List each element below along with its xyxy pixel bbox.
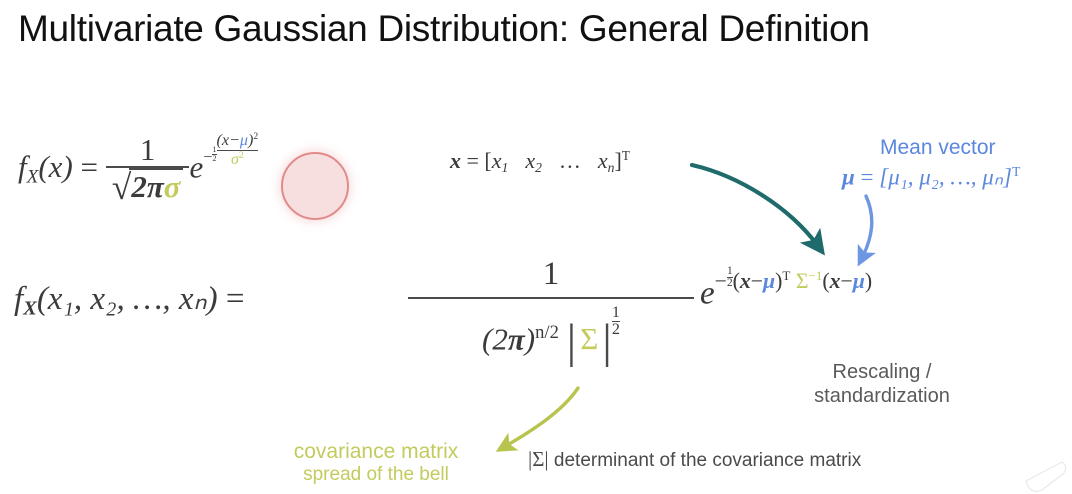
sigma-symbol: σ <box>164 169 181 204</box>
rescaling-line-1: Rescaling / <box>782 360 982 384</box>
exponent-x-minus-mu-1: (x−μ) <box>733 269 783 293</box>
bracket-open: [ <box>484 148 491 173</box>
transpose-marker: T <box>782 268 790 283</box>
covariance-line-1: covariance matrix <box>276 440 476 464</box>
determinant-symbol: |Σ| <box>528 447 549 471</box>
sigma-inverse-symbol: Σ <box>796 269 809 293</box>
one-half-exponent: 12 <box>612 305 620 338</box>
determinant-annotation: |Σ| determinant of the covariance matrix <box>528 447 861 472</box>
arrow-x-to-exponent <box>692 165 818 246</box>
mu-symbol: μ <box>240 132 248 149</box>
exponent-group: −12(x−μ)T Σ−1(x−μ) <box>715 269 873 293</box>
exp-base: e <box>189 149 203 184</box>
multivariate-formula-lhs: fX(x₁, x₂, …, xₙ) = <box>14 278 245 321</box>
ratio-numerator: (x−μ)2 <box>217 132 259 150</box>
fraction-denominator: √2πσ <box>106 166 190 206</box>
mu-symbol: μ <box>853 269 865 293</box>
covariance-line-2: spread of the bell <box>276 464 476 487</box>
mouse-pointer-icon <box>1012 448 1070 494</box>
sigma-symbol-denominator: σ <box>231 151 239 168</box>
covariance-annotation: covariance matrix spread of the bell <box>276 440 476 487</box>
fx-symbol: fX(x) <box>18 149 73 184</box>
multivariate-normalizing-fraction: 1 (2π)n/2 |Σ|12 <box>408 256 694 369</box>
rescaling-annotation: Rescaling / standardization <box>782 360 982 409</box>
equals-sign: = <box>467 148 479 173</box>
multivariate-exponential-term: e−12(x−μ)T Σ−1(x−μ) <box>700 266 872 313</box>
radicand: 2πσ <box>129 168 183 204</box>
slide-canvas: Multivariate Gaussian Distribution: Gene… <box>0 0 1072 494</box>
equals-sign: = <box>226 281 245 317</box>
page-title: Multivariate Gaussian Distribution: Gene… <box>18 8 870 50</box>
vector-ellipsis: … <box>559 148 581 173</box>
arrows-layer <box>0 0 1072 494</box>
vector-entry-n: xn <box>598 148 615 173</box>
mean-vector-label: Mean vector <box>880 136 996 160</box>
mean-vector-definition: μ = [μ₁, μ₂, …, μₙ]T <box>842 164 1020 191</box>
exponent-x-minus-mu-2: (x−μ) <box>822 269 872 293</box>
ratio-denominator: σ2 <box>217 150 259 169</box>
equals-sign: = <box>81 149 98 184</box>
rescaling-line-2: standardization <box>782 384 982 408</box>
two-pi-exponent: n/2 <box>535 322 559 343</box>
squared-z-ratio: (x−μ)2σ2 <box>217 132 259 168</box>
fraction-numerator: 1 <box>408 256 694 297</box>
sigma-matrix-symbol: Σ <box>576 321 602 356</box>
arrow-mu-to-exponent <box>862 196 872 258</box>
fx-symbol: fX <box>14 281 37 317</box>
normalizing-fraction: 1 √2πσ <box>106 134 190 207</box>
sigma-squared-highlight-circle <box>281 152 349 220</box>
fraction-numerator: 1 <box>106 134 190 167</box>
determinant-bar-left: | <box>567 314 577 369</box>
equals-sign: = <box>861 165 874 190</box>
univariate-gaussian-formula: fX(x) = 1 √2πσ e−12(x−μ)2σ2 <box>18 132 258 207</box>
vector-x-definition: x = [x1x2…xn]T <box>450 148 630 176</box>
vector-entry-1: x1 <box>492 148 509 173</box>
bold-x-symbol: x <box>450 148 461 173</box>
determinant-description: determinant of the covariance matrix <box>554 450 861 471</box>
fraction-denominator: (2π)n/2 |Σ|12 <box>408 299 694 369</box>
exp-base: e <box>700 276 715 312</box>
transpose-marker: T <box>1012 164 1020 179</box>
exponent-group: −12(x−μ)2σ2 <box>203 149 258 166</box>
function-arguments: (x₁, x₂, …, xₙ) <box>37 281 218 317</box>
two-pi-term: (2π) <box>482 321 535 356</box>
mean-vector-entries: [μ₁, μ₂, …, μₙ] <box>879 165 1012 190</box>
mu-symbol: μ <box>763 269 775 293</box>
bold-mu-symbol: μ <box>842 165 855 190</box>
arrow-sigma-to-covariance <box>504 388 578 447</box>
transpose-marker: T <box>622 148 630 163</box>
vector-entry-2: x2 <box>525 148 542 173</box>
bracket-close: ] <box>614 148 621 173</box>
sigma-inverse-exponent: −1 <box>808 268 822 283</box>
determinant-bar-right: | <box>602 314 612 369</box>
